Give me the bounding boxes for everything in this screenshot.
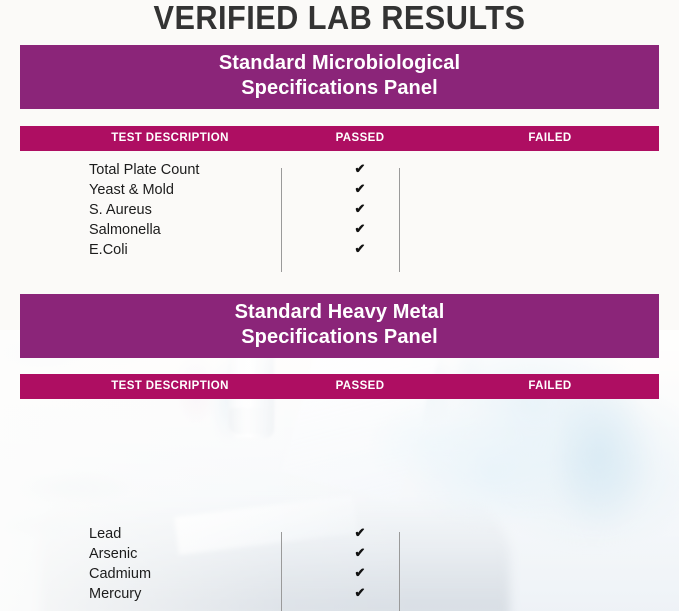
- table-row: Cadmium✔: [20, 564, 659, 584]
- cell-passed-check-icon: ✔: [286, 564, 434, 584]
- column-header-failed: FAILED: [468, 126, 632, 151]
- check-icon: ✔: [355, 179, 366, 199]
- cell-passed-check-icon: ✔: [286, 524, 434, 544]
- check-icon: ✔: [355, 219, 366, 239]
- cell-test-description: E.Coli: [89, 240, 128, 260]
- check-icon: ✔: [355, 563, 366, 583]
- table-row: Lead✔: [20, 524, 659, 544]
- cell-failed: [468, 200, 632, 220]
- table-row: Mercury✔: [20, 584, 659, 604]
- cell-test-description: Mercury: [89, 584, 141, 604]
- cell-passed-check-icon: ✔: [286, 180, 434, 200]
- cell-passed-check-icon: ✔: [286, 200, 434, 220]
- panel-title-line-1: Standard Microbiological: [20, 51, 659, 76]
- check-icon: ✔: [355, 523, 366, 543]
- cell-failed: [468, 524, 632, 544]
- check-icon: ✔: [355, 239, 366, 259]
- table-body-microbiological: Total Plate Count✔Yeast & Mold✔S. Aureus…: [20, 160, 659, 276]
- panel-title-line-1: Standard Heavy Metal: [20, 300, 659, 325]
- check-icon: ✔: [355, 199, 366, 219]
- column-header-description: TEST DESCRIPTION: [80, 374, 260, 399]
- cell-passed-check-icon: ✔: [286, 220, 434, 240]
- cell-test-description: Arsenic: [89, 544, 137, 564]
- table-body-heavy-metal: Lead✔Arsenic✔Cadmium✔Mercury✔: [20, 524, 659, 611]
- table-row: Total Plate Count✔: [20, 160, 659, 180]
- lab-results-page: VERIFIED LAB RESULTS Standard Microbiolo…: [0, 0, 679, 611]
- cell-failed: [468, 564, 632, 584]
- cell-passed-check-icon: ✔: [286, 584, 434, 604]
- panel-header: Standard Microbiological Specifications …: [20, 45, 659, 109]
- check-icon: ✔: [355, 583, 366, 603]
- cell-failed: [468, 160, 632, 180]
- cell-failed: [468, 544, 632, 564]
- check-icon: ✔: [355, 543, 366, 563]
- column-header-description: TEST DESCRIPTION: [80, 126, 260, 151]
- table-row: Yeast & Mold✔: [20, 180, 659, 200]
- cell-test-description: Lead: [89, 524, 121, 544]
- page-title: VERIFIED LAB RESULTS: [24, 0, 655, 36]
- cell-failed: [468, 584, 632, 604]
- cell-failed: [468, 180, 632, 200]
- table-row: S. Aureus✔: [20, 200, 659, 220]
- table-row: Arsenic✔: [20, 544, 659, 564]
- cell-test-description: Cadmium: [89, 564, 151, 584]
- cell-failed: [468, 240, 632, 260]
- panel-microbiological: Standard Microbiological Specifications …: [20, 45, 659, 109]
- table-rows: Lead✔Arsenic✔Cadmium✔Mercury✔: [20, 524, 659, 604]
- cell-test-description: Total Plate Count: [89, 160, 199, 180]
- cell-passed-check-icon: ✔: [286, 240, 434, 260]
- table-rows: Total Plate Count✔Yeast & Mold✔S. Aureus…: [20, 160, 659, 260]
- table-header-microbiological: TEST DESCRIPTION PASSED FAILED: [20, 126, 659, 151]
- cell-test-description: S. Aureus: [89, 200, 152, 220]
- cell-test-description: Yeast & Mold: [89, 180, 174, 200]
- cell-failed: [468, 220, 632, 240]
- panel-title-line-2: Specifications Panel: [20, 76, 659, 101]
- cell-test-description: Salmonella: [89, 220, 161, 240]
- table-header-heavy-metal: TEST DESCRIPTION PASSED FAILED: [20, 374, 659, 399]
- panel-title-line-2: Specifications Panel: [20, 325, 659, 350]
- column-header-passed: PASSED: [286, 374, 434, 399]
- check-icon: ✔: [355, 159, 366, 179]
- table-row: E.Coli✔: [20, 240, 659, 260]
- panel-heavy-metal: Standard Heavy Metal Specifications Pane…: [20, 294, 659, 358]
- cell-passed-check-icon: ✔: [286, 544, 434, 564]
- cell-passed-check-icon: ✔: [286, 160, 434, 180]
- column-header-passed: PASSED: [286, 126, 434, 151]
- column-header-failed: FAILED: [468, 374, 632, 399]
- panel-header: Standard Heavy Metal Specifications Pane…: [20, 294, 659, 358]
- table-row: Salmonella✔: [20, 220, 659, 240]
